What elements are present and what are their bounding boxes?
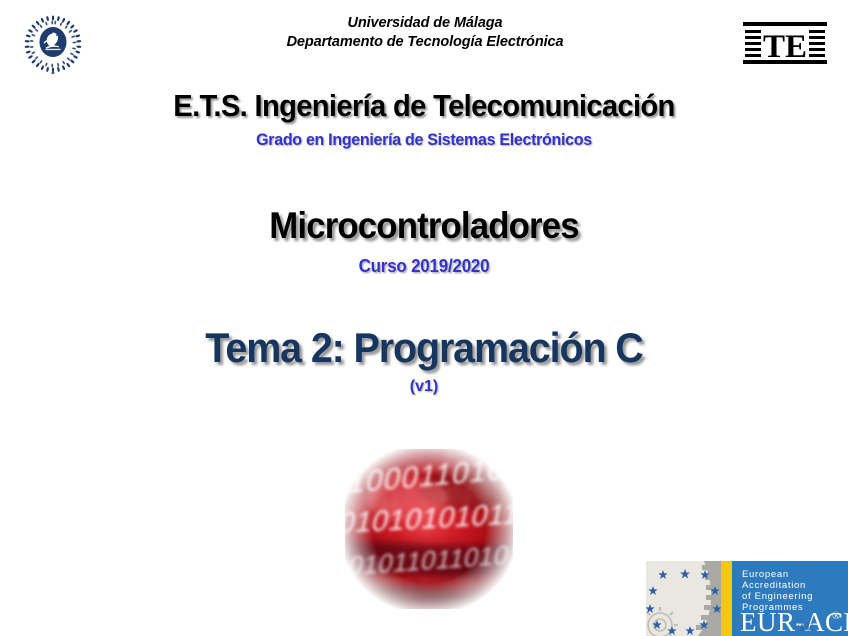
slide-canvas: Universidad de Málaga Departamento de Te… xyxy=(0,0,848,636)
subject-title: Microcontroladores xyxy=(25,204,822,248)
accreditation-line-2: Accreditation xyxy=(742,580,806,591)
te-department-logo: TE xyxy=(743,22,827,64)
eurace-accreditation-logo: European Accreditation of Engineering Pr… xyxy=(646,561,848,636)
school-title: E.T.S. Ingeniería de Telecomunicación xyxy=(25,88,822,124)
title-block: E.T.S. Ingeniería de Telecomunicación Gr… xyxy=(0,88,848,397)
academic-year: Curso 2019/2020 xyxy=(25,255,822,277)
topic-title: Tema 2: Programación C xyxy=(25,323,822,373)
institution-line-2: Departamento de Tecnología Electrónica xyxy=(180,33,670,52)
uma-seal-logo xyxy=(20,11,86,77)
te-logo-letters: TE xyxy=(763,29,807,64)
version-label: (v1) xyxy=(0,377,848,397)
accreditation-line-1: European xyxy=(742,569,789,580)
accreditation-line-3: of Engineering xyxy=(742,591,813,602)
binary-code-cover-image: 1000110101001 0101010101101010 010110110… xyxy=(345,449,513,609)
te-watermark: TE xyxy=(798,620,814,634)
registered-trademark-icon: ® xyxy=(832,610,840,622)
degree-subtitle: Grado en Ingeniería de Sistemas Electrón… xyxy=(25,129,822,150)
institution-line-1: Universidad de Málaga xyxy=(180,14,670,33)
institution-header: Universidad de Málaga Departamento de Te… xyxy=(180,14,670,52)
